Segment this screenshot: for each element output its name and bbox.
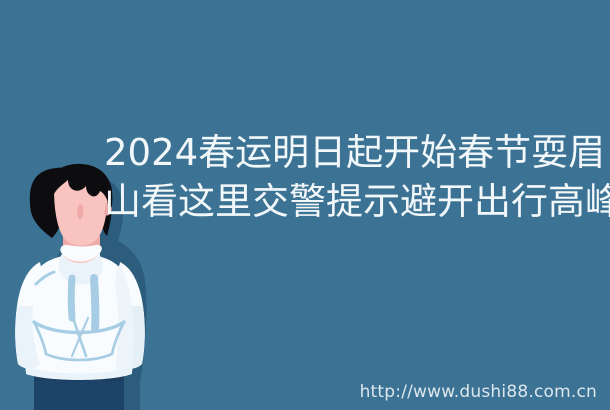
- headline-line-1: 2024春运明日起开始春节耍眉: [104, 128, 604, 177]
- headline-text-block: 2024春运明日起开始春节耍眉 山看这里交警提示避开出行高峰易: [104, 128, 604, 226]
- headline-line-2: 山看这里交警提示避开出行高峰易: [104, 177, 604, 226]
- watermark-url: http://www.dushi88.com.cn: [360, 382, 597, 402]
- image-canvas: 2024春运明日起开始春节耍眉 山看这里交警提示避开出行高峰易 http://w…: [0, 0, 610, 410]
